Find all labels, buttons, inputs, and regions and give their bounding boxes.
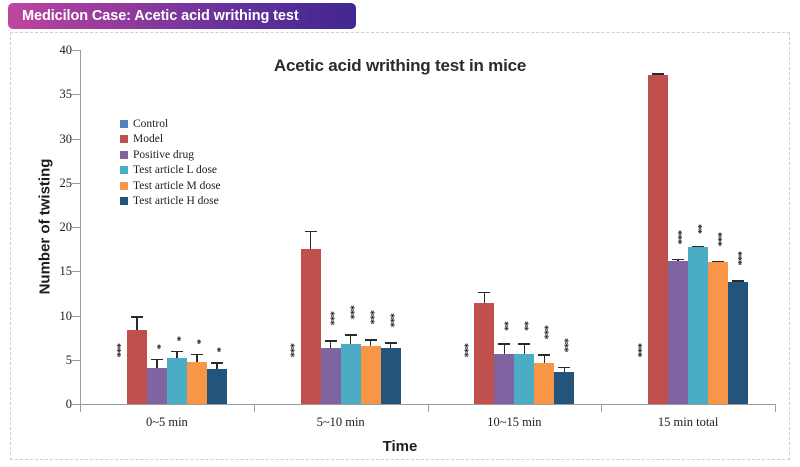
significance-marker: ***	[366, 310, 376, 324]
error-bar-stem	[484, 292, 486, 304]
y-axis-tick-label: 10	[32, 309, 72, 324]
error-bar-stem	[136, 316, 138, 329]
x-axis-category-label: 0~5 min	[87, 415, 247, 430]
significance-marker: ***	[326, 311, 336, 325]
y-axis-tick	[72, 139, 80, 140]
error-bar-cap	[538, 354, 550, 356]
error-bar-cap	[498, 343, 510, 345]
y-axis-tick	[72, 271, 80, 272]
legend-swatch-icon	[120, 166, 128, 174]
chart-bar	[688, 247, 708, 404]
chart-bar	[534, 363, 554, 404]
error-bar-cap	[385, 342, 397, 344]
legend-item: Test article M dose	[120, 178, 221, 194]
chart-bar	[167, 358, 187, 404]
y-axis-tick	[72, 316, 80, 317]
legend-label: Control	[133, 118, 168, 130]
x-axis-tick	[428, 404, 429, 412]
legend-swatch-icon	[120, 135, 128, 143]
chart-bar	[494, 354, 514, 404]
significance-marker: *	[152, 344, 162, 349]
error-bar-cap	[305, 231, 317, 233]
significance-marker: **	[693, 224, 703, 233]
chart-bar	[668, 261, 688, 404]
x-axis-category-label: 10~15 min	[434, 415, 594, 430]
significance-marker: ***	[346, 305, 356, 319]
significance-marker: *	[212, 347, 222, 352]
significance-marker: ***	[673, 230, 683, 244]
legend-item: Positive drug	[120, 147, 221, 163]
significance-marker: ***	[112, 343, 122, 357]
error-bar-cap	[692, 246, 704, 248]
chart-bar	[341, 344, 361, 404]
y-axis-tick	[72, 404, 80, 405]
chart-bar	[381, 348, 401, 404]
significance-marker: ***	[733, 251, 743, 265]
legend-swatch-icon	[120, 151, 128, 159]
error-bar-cap	[171, 351, 183, 353]
y-axis-tick	[72, 94, 80, 95]
chart-legend: ControlModelPositive drugTest article L …	[120, 116, 221, 209]
bar-chart-figure: Acetic acid writhing test in mice Number…	[0, 0, 800, 467]
error-bar-cap	[652, 73, 664, 75]
chart-bar	[554, 372, 574, 404]
chart-bar	[187, 362, 207, 404]
y-axis-tick-label: 40	[32, 43, 72, 58]
chart-bar	[207, 369, 227, 404]
legend-item: Test article L dose	[120, 163, 221, 179]
x-axis-tick	[80, 404, 81, 412]
x-axis-tick	[254, 404, 255, 412]
significance-marker: ***	[459, 343, 469, 357]
error-bar-cap	[151, 359, 163, 361]
y-axis-tick	[72, 360, 80, 361]
error-bar-cap	[478, 292, 490, 294]
error-bar-cap	[558, 367, 570, 369]
error-bar-cap	[365, 339, 377, 341]
chart-bar	[361, 346, 381, 404]
x-axis-title: Time	[0, 438, 800, 455]
chart-bar	[474, 303, 494, 404]
y-axis-tick-label: 15	[32, 264, 72, 279]
significance-marker: ***	[633, 343, 643, 357]
chart-bar	[127, 330, 147, 404]
significance-marker: ***	[559, 338, 569, 352]
legend-swatch-icon	[120, 182, 128, 190]
significance-marker: ***	[386, 313, 396, 327]
chart-bar	[708, 262, 728, 404]
significance-marker: ***	[713, 232, 723, 246]
legend-label: Test article H dose	[133, 195, 219, 207]
y-axis-tick	[72, 183, 80, 184]
legend-label: Model	[133, 133, 163, 145]
y-axis-tick-label: 0	[32, 397, 72, 412]
x-axis-category-label: 15 min total	[608, 415, 768, 430]
x-axis-tick	[775, 404, 776, 412]
error-bar-cap	[345, 334, 357, 336]
chart-bar	[301, 249, 321, 404]
significance-marker: **	[499, 321, 509, 330]
legend-item: Control	[120, 116, 221, 132]
error-bar-cap	[672, 259, 684, 261]
error-bar-cap	[518, 343, 530, 345]
y-axis-tick-label: 20	[32, 220, 72, 235]
chart-bar	[514, 354, 534, 404]
legend-label: Positive drug	[133, 149, 194, 161]
error-bar-cap	[191, 354, 203, 356]
chart-bar	[147, 368, 167, 404]
significance-marker: *	[192, 339, 202, 344]
legend-label: Test article L dose	[133, 164, 217, 176]
legend-item: Model	[120, 132, 221, 148]
significance-marker: ***	[539, 325, 549, 339]
chart-title: Acetic acid writhing test in mice	[0, 56, 800, 76]
significance-marker: **	[519, 321, 529, 330]
x-axis-tick	[601, 404, 602, 412]
error-bar-cap	[325, 340, 337, 342]
error-bar-cap	[732, 280, 744, 282]
error-bar-cap	[712, 261, 724, 263]
significance-marker: ***	[286, 343, 296, 357]
legend-swatch-icon	[120, 120, 128, 128]
y-axis-tick-label: 5	[32, 353, 72, 368]
significance-marker: *	[172, 336, 182, 341]
error-bar-stem	[524, 343, 526, 355]
error-bar-cap	[211, 362, 223, 364]
y-axis-tick-label: 30	[32, 132, 72, 147]
chart-bar	[648, 75, 668, 404]
y-axis-line	[80, 50, 81, 405]
y-axis-tick-label: 35	[32, 87, 72, 102]
legend-label: Test article M dose	[133, 180, 221, 192]
chart-bar	[321, 348, 341, 404]
y-axis-tick	[72, 50, 80, 51]
error-bar-cap	[131, 316, 143, 318]
error-bar-stem	[310, 231, 312, 250]
y-axis-tick-label: 25	[32, 176, 72, 191]
y-axis-tick	[72, 227, 80, 228]
legend-swatch-icon	[120, 197, 128, 205]
chart-bar	[728, 282, 748, 404]
legend-item: Test article H dose	[120, 194, 221, 210]
x-axis-category-label: 5~10 min	[261, 415, 421, 430]
